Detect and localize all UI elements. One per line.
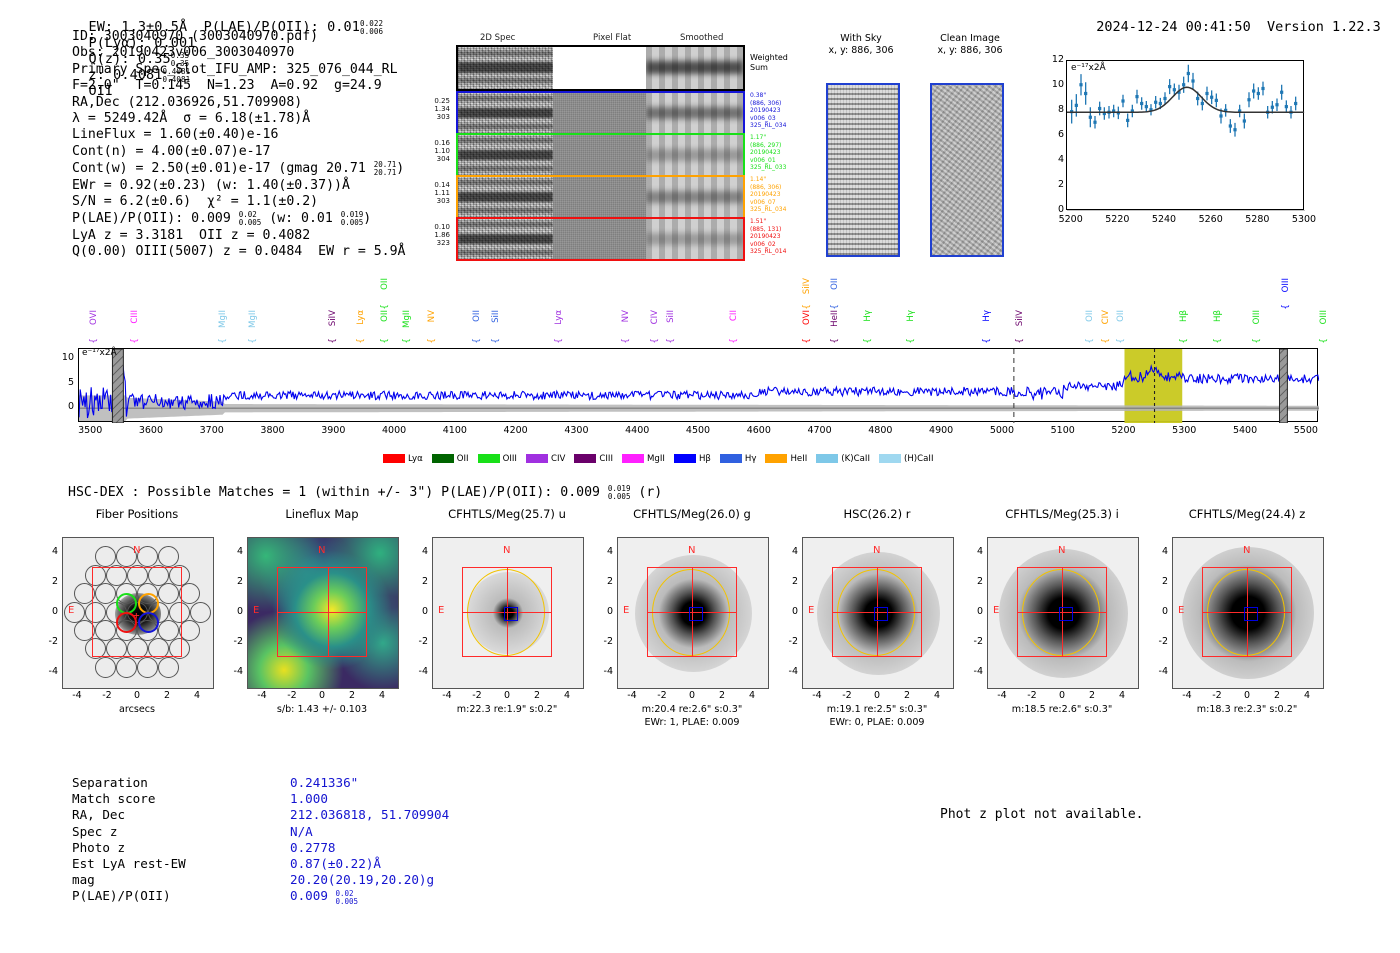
cutout-title: HSC(26.2) r <box>778 507 976 521</box>
legend-label: MgII <box>647 454 665 464</box>
fiber-left-value: 0.25 <box>418 97 450 105</box>
fiber-right-value: 20190423 <box>750 191 786 199</box>
fiber-right-value: (886, 297) <box>750 142 786 150</box>
compass-e: E <box>623 605 629 616</box>
line-fit-axes: e⁻¹⁷x2Å <box>1066 60 1304 210</box>
fiber-pixelflat-image <box>553 219 646 259</box>
line-fit-svg <box>1067 61 1305 211</box>
legend-item: OIII <box>478 454 517 464</box>
cutout-ytick: -4 <box>965 666 983 677</box>
fiber-right-value: 0.38" <box>750 92 786 100</box>
spectrum-xtick: 5500 <box>1284 425 1328 436</box>
cutout-ytick: 2 <box>965 576 983 587</box>
lineflux-map-title: Lineflux Map <box>227 507 417 521</box>
legend-item: CIII <box>574 454 613 464</box>
match-table-key: Separation <box>72 775 148 791</box>
cutout-xtick: 0 <box>678 690 706 701</box>
lineflux-map-xtick: 2 <box>338 690 366 701</box>
info-id: ID: 3003040970 (3003040970.pdf) <box>72 29 405 45</box>
fiber-cutout-row <box>456 175 745 219</box>
match-table-key: RA, Dec <box>72 807 125 823</box>
match-table-key: Est LyA rest-EW <box>72 856 186 872</box>
compass-n: N <box>873 545 880 556</box>
match-table-value: N/A <box>290 824 313 840</box>
fiber-right-value: 1.17" <box>750 134 786 142</box>
fiber-left-value: 1.34 <box>418 105 450 113</box>
info-plae-close: ) <box>363 211 371 226</box>
fiber-positions-xtick: 4 <box>183 690 211 701</box>
emission-line-brace: { <box>130 338 140 344</box>
cont-w-text: Cont(w) = 2.50(±0.01)e-17 (gmag 20.71 <box>72 161 374 176</box>
spectrum-xtick: 3500 <box>68 425 112 436</box>
lineflux-map-ytick: 0 <box>225 606 243 617</box>
emission-line-label: Hγ <box>906 310 916 322</box>
fiber-circle <box>95 546 116 567</box>
lineflux-map-xtick: 4 <box>368 690 396 701</box>
legend-item: Lyα <box>383 454 423 464</box>
spectrum-xtick: 5000 <box>980 425 1024 436</box>
fiber-positions-ytick: -4 <box>40 666 58 677</box>
emission-line-brace: { <box>491 338 501 344</box>
match-table-value: 0.009 0.020.005 <box>290 888 358 905</box>
emission-line-brace: { <box>729 338 739 344</box>
legend-item: (K)CaII <box>816 454 870 464</box>
cutout-footer-primary: m:18.3 re:2.3" s:0.2" <box>1150 704 1344 715</box>
legend-label: OIII <box>503 454 517 464</box>
cutout-center-marker <box>504 607 518 621</box>
spectrum-xtick: 3600 <box>129 425 173 436</box>
cutout-xtick: -2 <box>463 690 491 701</box>
header-timestamp-version: 2024-12-24 00:41:50 Version 1.22.3 <box>1080 3 1381 35</box>
cutout-ytick: 0 <box>595 606 613 617</box>
info-plae: P(LAE)/P(OII): 0.009 0.020.005 (w: 0.01 … <box>72 210 405 227</box>
legend-label: (H)CaII <box>904 454 934 464</box>
cutout-ytick: -2 <box>1150 636 1168 647</box>
spectrum-xtick: 4300 <box>554 425 598 436</box>
emission-line-label: MgII <box>248 310 258 328</box>
photz-plot-message: Phot z plot not available. <box>940 807 1144 822</box>
compass-n: N <box>133 545 140 556</box>
emission-legend: LyαOIIOIIICIVCIIIMgIIHβHγHeII(K)CaII(H)C… <box>383 448 943 467</box>
spectrum-xtick: 4700 <box>798 425 842 436</box>
fiber-right-value: v006_07 <box>750 199 786 207</box>
legend-swatch <box>432 454 454 463</box>
cutout-xtick: -4 <box>1173 690 1201 701</box>
spectrum-xtick: 3800 <box>251 425 295 436</box>
match-table-value: 0.241336" <box>290 775 358 791</box>
cutout-footer-primary: m:20.4 re:2.6" s:0.3" <box>595 704 789 715</box>
linefit-ytick: 12 <box>1044 54 1064 65</box>
spectrum-xtick: 4100 <box>433 425 477 436</box>
emission-line-label: OII <box>1116 310 1126 322</box>
cutout-ytick: -4 <box>410 666 428 677</box>
emission-line-label: OVI <box>802 310 812 325</box>
linefit-xtick: 5280 <box>1239 214 1275 225</box>
legend-item: MgII <box>622 454 665 464</box>
cutout-xtick: 0 <box>493 690 521 701</box>
spectrum-ytick: 10 <box>52 352 74 363</box>
compass-n: N <box>688 545 695 556</box>
legend-item: (H)CaII <box>879 454 934 464</box>
linefit-xtick: 5300 <box>1286 214 1322 225</box>
emission-line-brace: { <box>1101 338 1111 344</box>
fiber-left-labels: 0.251.34303 <box>418 97 450 122</box>
compass-e: E <box>1178 605 1184 616</box>
fiber-right-value: 20190423 <box>750 149 786 157</box>
match-plae-errors: 0.020.005 <box>336 890 359 906</box>
emission-line-brace: { <box>402 338 412 344</box>
with-sky-image <box>826 83 900 257</box>
fiber-pixelflat-image <box>553 135 646 175</box>
fiber-circle <box>158 657 179 678</box>
fiber-left-value: 323 <box>418 239 450 247</box>
compass-n: N <box>503 545 510 556</box>
lineflux-map-ytick: -2 <box>225 636 243 647</box>
info-lineflux: LineFlux = 1.60(±0.40)e-16 <box>72 127 405 143</box>
legend-swatch <box>574 454 596 463</box>
info-radec: RA,Dec (212.036926,51.709908) <box>72 95 405 111</box>
match-table-key: mag <box>72 872 95 888</box>
legend-swatch <box>478 454 500 463</box>
emission-line-label: Lyα <box>356 310 366 325</box>
info-quality: Q(0.00) OIII(5007) z = 0.0484 EW r = 5.9… <box>72 244 405 260</box>
emission-line-label: Hβ <box>1179 310 1189 322</box>
fiber-cutout-row <box>456 133 745 177</box>
fiber-positions-ytick: 4 <box>40 546 58 557</box>
fiber-right-value: (886, 306) <box>750 100 786 108</box>
spectrum-xtick: 4600 <box>737 425 781 436</box>
linefit-ytick: 8 <box>1044 104 1064 115</box>
fiber-right-value: 1.51" <box>750 218 786 226</box>
fiber-2dspec-image <box>458 219 553 259</box>
legend-item: Hγ <box>720 454 757 464</box>
cutout-ytick: 0 <box>1150 606 1168 617</box>
cutout-xtick: 0 <box>1233 690 1261 701</box>
info-cont-w: Cont(w) = 2.50(±0.01)e-17 (gmag 20.71 20… <box>72 160 405 177</box>
legend-label: Hβ <box>699 454 711 464</box>
emission-line-brace: { <box>1179 338 1189 344</box>
emission-line-label: OII <box>380 310 390 322</box>
spectrum-xtick: 4500 <box>676 425 720 436</box>
fiber-cutout-row <box>456 91 745 135</box>
fiber-right-value: (886, 306) <box>750 184 786 192</box>
compass-n: N <box>1058 545 1065 556</box>
cutout-ytick: -4 <box>780 666 798 677</box>
emission-line-brace: { <box>1015 338 1025 344</box>
legend-swatch <box>622 454 644 463</box>
emission-line-label: CIV <box>1101 310 1111 324</box>
spectrum-xtick: 3700 <box>190 425 234 436</box>
fiber-right-labels: 1.51"(885, 131)20190423v006_02325_RL_014 <box>750 218 786 256</box>
cutout-title: CFHTLS/Meg(25.7) u <box>408 507 606 521</box>
cutout-ytick: -2 <box>595 636 613 647</box>
emission-line-brace: { <box>328 338 338 344</box>
timestamp: 2024-12-24 00:41:50 <box>1096 19 1250 35</box>
cutout-center-marker <box>1059 607 1073 621</box>
spectrum-xtick: 4800 <box>858 425 902 436</box>
info-plae-weighted-text: (w: 0.01 <box>261 211 340 226</box>
cutout-footer-primary: m:22.3 re:1.9" s:0.2" <box>410 704 604 715</box>
cutout-xtick: 2 <box>1263 690 1291 701</box>
fiber-positions-xtick: 0 <box>123 690 151 701</box>
emission-line-brace: { <box>380 338 390 344</box>
fiber-left-value: 1.86 <box>418 231 450 239</box>
match-table-value: 1.000 <box>290 791 328 807</box>
match-table-key: Spec z <box>72 824 118 840</box>
cutout-footer-primary: m:19.1 re:2.5" s:0.3" <box>780 704 974 715</box>
cutout-ytick: -2 <box>410 636 428 647</box>
fiber-circle <box>179 583 200 604</box>
match-table-value: 0.87(±0.22)Å <box>290 856 381 872</box>
emission-line-label: OII <box>380 278 390 290</box>
cutout-ytick: 0 <box>965 606 983 617</box>
emission-line-brace: { <box>1281 304 1291 310</box>
lineflux-map-xtick: -2 <box>278 690 306 701</box>
emission-line-brace: { <box>1213 338 1223 344</box>
fiber-left-value: 303 <box>418 197 450 205</box>
legend-label: CIV <box>551 454 565 464</box>
emission-line-brace: { <box>380 304 390 310</box>
linefit-xtick: 5220 <box>1099 214 1135 225</box>
emission-line-brace: { <box>802 304 812 310</box>
weighted-sum-row <box>456 45 745 91</box>
cutout-xtick: -2 <box>1018 690 1046 701</box>
cutout-xtick: 2 <box>1078 690 1106 701</box>
cutout-ytick: 2 <box>1150 576 1168 587</box>
fiber-right-value: v006_03 <box>750 115 786 123</box>
compass-e: E <box>253 605 259 616</box>
legend-swatch <box>879 454 901 463</box>
cutout-xtick: -2 <box>648 690 676 701</box>
fiber-positions-xtick: -2 <box>93 690 121 701</box>
fiber-right-value: 325_RL_034 <box>750 122 786 130</box>
info-lambda-sigma: λ = 5249.42Å σ = 6.18(±1.78)Å <box>72 111 405 127</box>
lineflux-map-footer: s/b: 1.43 +/- 0.103 <box>225 704 419 715</box>
fiber-circle <box>116 657 137 678</box>
emission-line-brace: { <box>830 304 840 310</box>
info-sn-chi2: S/N = 6.2(±0.6) χ² = 1.1(±0.2) <box>72 194 405 210</box>
catalog-plae-lower: 0.005 <box>608 493 631 501</box>
legend-label: Hγ <box>745 454 757 464</box>
emission-line-label: NV <box>427 310 437 322</box>
legend-label: (K)CaII <box>841 454 870 464</box>
match-table-key: Match score <box>72 791 155 807</box>
cutout-footer-secondary: EWr: 0, PLAE: 0.009 <box>780 717 974 728</box>
legend-label: OII <box>457 454 469 464</box>
legend-item: Hβ <box>674 454 711 464</box>
emission-line-label: SiII <box>666 310 676 323</box>
emission-line-brace: { <box>830 338 840 344</box>
fiber-right-value: 325_RL_033 <box>750 164 786 172</box>
col-title-smoothed: Smoothed <box>680 33 723 43</box>
linefit-ytick: 6 <box>1044 129 1064 140</box>
emission-line-brace: { <box>1252 338 1262 344</box>
info-params: F=2.0" T=0.145 N=1.23 A=0.92 g=24.9 <box>72 78 405 94</box>
spectrum-xtick: 5300 <box>1162 425 1206 436</box>
info-cont-n: Cont(n) = 4.00(±0.07)e-17 <box>72 144 405 160</box>
spectrum-xtick: 5400 <box>1223 425 1267 436</box>
emission-line-brace: { <box>863 338 873 344</box>
cutout-panel-row: Fiber PositionsNE+-4-2024-4-2024arcsecsL… <box>0 505 1400 730</box>
cutout-title: CFHTLS/Meg(25.3) i <box>963 507 1161 521</box>
legend-swatch <box>720 454 742 463</box>
emission-line-label: CIII <box>130 310 140 324</box>
spectrum-flux-annotation: e⁻¹⁷x2Å <box>82 348 117 358</box>
match-table-key: Photo z <box>72 840 125 856</box>
fiber-right-value: (885, 131) <box>750 226 786 234</box>
emission-line-label: OIII <box>1252 310 1262 324</box>
cont-w-close: ) <box>396 161 404 176</box>
fiber-circle <box>158 546 179 567</box>
linefit-ytick: 4 <box>1044 154 1064 165</box>
legend-item: HeII <box>765 454 807 464</box>
emission-line-brace: { <box>1319 338 1329 344</box>
lineflux-map-xtick: 0 <box>308 690 336 701</box>
emission-line-label: OIII <box>1281 278 1291 292</box>
linefit-ytick: 10 <box>1044 79 1064 90</box>
legend-swatch <box>383 454 405 463</box>
match-table-value: 212.036818, 51.709904 <box>290 807 449 823</box>
fiber-positions-ytick: 0 <box>40 606 58 617</box>
info-plae-lower: 0.005 <box>239 219 262 227</box>
fiber-right-labels: 1.17"(886, 297)20190423v006_01325_RL_033 <box>750 134 786 172</box>
weighted-sum-2dspec <box>458 47 553 89</box>
fiber-smoothed-image <box>646 177 743 217</box>
emission-line-label: OVI <box>89 310 99 325</box>
center-cross-marker: + <box>133 609 140 622</box>
fiber-right-value: v006_02 <box>750 241 786 249</box>
spectrum-xtick: 4400 <box>615 425 659 436</box>
info-ewr: EWr = 0.92(±0.23) (w: 1.40(±0.37))Å <box>72 178 405 194</box>
spectrum-ytick: 5 <box>52 377 74 388</box>
emission-line-label: OIII <box>1319 310 1329 324</box>
fiber-positions-xtick: 2 <box>153 690 181 701</box>
spectrum-axes: e⁻¹⁷x2Å <box>78 348 1318 422</box>
emission-line-label: OII <box>472 310 482 322</box>
info-plae-w-errors: 0.0190.005 <box>341 211 364 227</box>
cutout-ytick: 2 <box>780 576 798 587</box>
fiber-2dspec-image <box>458 93 553 133</box>
emission-line-label: Lyα <box>554 310 564 325</box>
emission-line-brace: { <box>650 338 660 344</box>
emission-line-brace: { <box>1085 338 1095 344</box>
fiber-smoothed-image <box>646 93 743 133</box>
fiber-positions-ytick: 2 <box>40 576 58 587</box>
fiber-left-value: 0.14 <box>418 181 450 189</box>
with-sky-subtitle: x, y: 886, 306 <box>818 45 904 57</box>
emission-line-brace: { <box>356 338 366 344</box>
legend-label: CIII <box>599 454 613 464</box>
cutout-ytick: 4 <box>1150 546 1168 557</box>
cutout-ytick: -2 <box>965 636 983 647</box>
catalog-header-filter: (r) <box>630 485 662 500</box>
col-title-pixelflat: Pixel Flat <box>593 33 631 43</box>
legend-swatch <box>816 454 838 463</box>
spectrum-svg <box>79 349 1319 423</box>
fiber-left-value: 1.10 <box>418 147 450 155</box>
fiber-right-labels: 0.38"(886, 306)20190423v006_03325_RL_034 <box>750 92 786 130</box>
cutout-xtick: 0 <box>1048 690 1076 701</box>
match-table-value: 20.20(20.19,20.20)g <box>290 872 434 888</box>
info-plae-text: P(LAE)/P(OII): 0.009 <box>72 211 239 226</box>
fiber-circle <box>137 657 158 678</box>
cutout-xtick: 2 <box>523 690 551 701</box>
cont-w-errors: 20.7120.71 <box>374 161 397 177</box>
legend-swatch <box>674 454 696 463</box>
lineflux-map-cross-h <box>277 612 367 613</box>
source-info-block: ID: 3003040970 (3003040970.pdf) Obs: 201… <box>72 29 405 261</box>
fiber-circle <box>190 602 211 623</box>
fiber-2dspec-image <box>458 135 553 175</box>
fiber-positions-xtick: -4 <box>63 690 91 701</box>
emission-line-label: MgII <box>218 310 228 328</box>
fiber-right-labels: 1.14"(886, 306)20190423v006_07325_RL_034 <box>750 176 786 214</box>
compass-n: N <box>318 545 325 556</box>
full-spectrum-panel: OVI{CIII{MgII{MgII{SiIV{Lyα{OII{OII{MgII… <box>78 276 1318 471</box>
legend-label: Lyα <box>408 454 423 464</box>
legend-item: OII <box>432 454 469 464</box>
linefit-ytick: 2 <box>1044 179 1064 190</box>
match-table-value: 0.2778 <box>290 840 336 856</box>
fiber-left-value: 304 <box>418 155 450 163</box>
cutout-xtick: -4 <box>618 690 646 701</box>
fiber-positions-title: Fiber Positions <box>42 507 232 521</box>
catalog-plae-errors: 0.0190.005 <box>608 485 631 501</box>
emission-line-brace: { <box>427 338 437 344</box>
cutout-ytick: -2 <box>780 636 798 647</box>
clean-image-subtitle: x, y: 886, 306 <box>922 45 1018 57</box>
lineflux-map-ytick: -4 <box>225 666 243 677</box>
cutout-xtick: -2 <box>833 690 861 701</box>
spectrum-xtick: 5200 <box>1101 425 1145 436</box>
emission-line-brace: { <box>982 338 992 344</box>
info-plae-errors: 0.020.005 <box>239 211 262 227</box>
cutout-xtick: -4 <box>803 690 831 701</box>
emission-line-brace: { <box>89 338 99 344</box>
legend-item: CIV <box>526 454 565 464</box>
spectrum-xtick: 4000 <box>372 425 416 436</box>
fiber-right-value: 20190423 <box>750 107 786 115</box>
lineflux-map-cross-v <box>328 567 329 657</box>
catalog-match-header: HSC-DEX : Possible Matches = 1 (within +… <box>68 484 662 500</box>
cutout-xtick: 2 <box>708 690 736 701</box>
line-fit-flux-annotation: e⁻¹⁷x2Å <box>1071 63 1106 73</box>
linefit-xtick: 5240 <box>1146 214 1182 225</box>
cutout-xtick: 4 <box>1293 690 1321 701</box>
fiber-cutout-row <box>456 217 745 261</box>
sky-image-panels: With Sky x, y: 886, 306 Clean Image x, y… <box>818 33 1018 253</box>
emission-line-brace: { <box>621 338 631 344</box>
emission-line-label: NV <box>621 310 631 322</box>
emission-line-brace: { <box>1116 338 1126 344</box>
info-plae-w-lower: 0.005 <box>341 219 364 227</box>
cutout-xtick: 4 <box>923 690 951 701</box>
emission-line-label: OII <box>1085 310 1095 322</box>
linefit-xtick: 5260 <box>1193 214 1229 225</box>
clean-image-title: Clean Image <box>922 33 1018 45</box>
fiber-right-value: 325_RL_014 <box>750 248 786 256</box>
emission-line-brace: { <box>802 338 812 344</box>
info-primary-spec: Primary Spec_Slot_IFU_AMP: 325_076_044_R… <box>72 62 405 78</box>
emission-line-label: SiIV <box>802 278 812 294</box>
emission-line-brace: { <box>666 338 676 344</box>
emission-line-label: OII <box>830 278 840 290</box>
emission-line-brace: { <box>248 338 258 344</box>
emission-line-brace: { <box>906 338 916 344</box>
catalog-header-text: HSC-DEX : Possible Matches = 1 (within +… <box>68 485 608 500</box>
fiber-right-value: 325_RL_034 <box>750 206 786 214</box>
fiber-2dspec-image <box>458 177 553 217</box>
